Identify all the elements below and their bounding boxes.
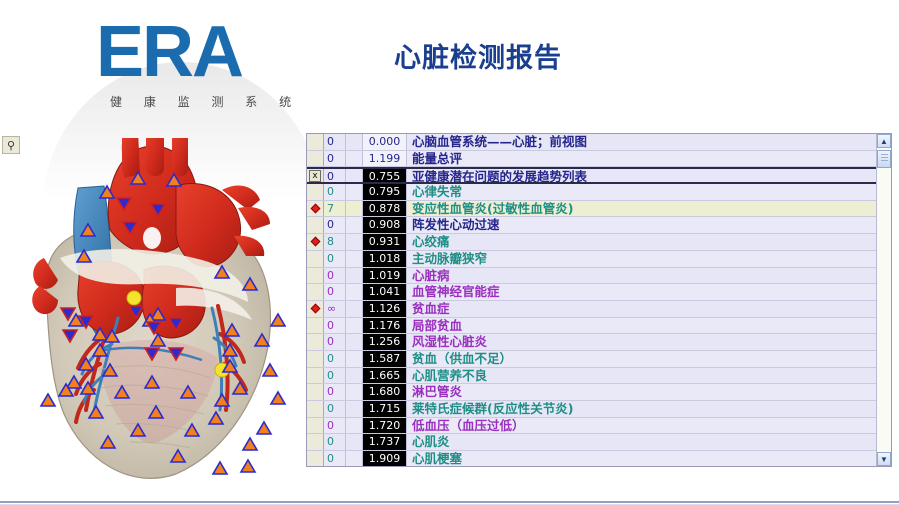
row-spacer-cell [346,284,363,300]
table-row[interactable]: 01.909心肌梗塞 [307,451,876,466]
row-flag-cell [307,418,324,434]
row-label-cell: 局部贫血 [407,318,876,334]
row-label-cell: 莱特氏症候群(反应性关节炎) [407,401,876,417]
row-spacer-cell [346,151,363,167]
row-value-cell: 1.019 [363,268,407,284]
row-count-cell: 0 [324,451,346,466]
row-spacer-cell [346,318,363,334]
row-spacer-cell [346,134,363,150]
row-flag-cell [307,268,324,284]
table-row[interactable]: 01.720低血压（血压过低） [307,418,876,435]
row-spacer-cell [346,368,363,384]
row-label-cell: 亚健康潜在问题的发展趋势列表 [407,169,876,182]
row-spacer-cell [346,418,363,434]
row-count-cell: 0 [324,368,346,384]
row-spacer-cell [346,184,363,200]
row-value-cell: 1.199 [363,151,407,167]
heart-anatomy-image [26,138,294,488]
diamond-shape [310,304,320,314]
row-label-cell: 淋巴管炎 [407,384,876,400]
row-spacer-cell [346,234,363,250]
diamond-shape [310,204,320,214]
row-spacer-cell [346,434,363,450]
row-count-cell: ∞ [324,301,346,317]
row-count-cell: 0 [324,284,346,300]
table-row[interactable]: 01.018主动脉瓣狭窄 [307,251,876,268]
row-flag-cell [307,151,324,167]
row-value-cell: 0.908 [363,217,407,233]
scroll-up-button[interactable]: ▲ [877,134,891,148]
row-label-cell: 心脏病 [407,268,876,284]
report-page: ERA 健 康 监 测 系 统 心脏检测报告 ⚲ [0,0,899,505]
close-glyph[interactable]: x [309,170,321,182]
row-count-cell: 0 [324,384,346,400]
row-value-cell: 0.000 [363,134,407,150]
table-row[interactable]: 01.019心脏病 [307,268,876,285]
table-row[interactable]: 70.878变应性血管炎(过敏性血管炎) [307,201,876,218]
scroll-down-button[interactable]: ▼ [877,452,891,466]
row-label-cell: 低血压（血压过低） [407,418,876,434]
row-flag-cell [307,251,324,267]
row-value-cell: 1.176 [363,318,407,334]
row-count-cell: 8 [324,234,346,250]
row-count-cell: 0 [324,351,346,367]
table-row[interactable]: 01.199能量总评 [307,151,876,168]
row-value-cell: 1.126 [363,301,407,317]
heart-image-panel: ⚲ [0,130,300,490]
row-spacer-cell [346,201,363,217]
row-value-cell: 1.715 [363,401,407,417]
row-value-cell: 0.795 [363,184,407,200]
row-flag-cell [307,434,324,450]
row-label-cell: 风湿性心脏炎 [407,334,876,350]
row-count-cell: 0 [324,217,346,233]
row-spacer-cell [346,451,363,466]
table-row[interactable]: 01.587贫血（供血不足） [307,351,876,368]
table-row[interactable]: x00.755亚健康潜在问题的发展趋势列表 [307,167,876,184]
table-scrollbar[interactable]: ▲ ▼ [876,134,891,466]
row-label-cell: 心肌营养不良 [407,368,876,384]
row-flag-cell [307,217,324,233]
footer-divider [0,501,899,503]
row-spacer-cell [346,268,363,284]
row-value-cell: 1.737 [363,434,407,450]
row-count-cell: 0 [324,184,346,200]
brand-logo: ERA 健 康 监 测 系 统 [52,8,302,120]
row-label-cell: 血管神经官能症 [407,284,876,300]
row-label-cell: 心律失常 [407,184,876,200]
row-count-cell: 0 [324,318,346,334]
row-value-cell: 1.256 [363,334,407,350]
row-flag-cell [307,334,324,350]
row-spacer-cell [346,169,363,182]
row-count-cell: 0 [324,401,346,417]
diamond-shape [310,237,320,247]
row-label-cell: 贫血（供血不足） [407,351,876,367]
logo-text: ERA [96,16,242,88]
table-row[interactable]: 00.795心律失常 [307,184,876,201]
row-value-cell: 0.931 [363,234,407,250]
table-row[interactable]: 01.715莱特氏症候群(反应性关节炎) [307,401,876,418]
row-value-cell: 1.665 [363,368,407,384]
table-row[interactable]: 01.665心肌营养不良 [307,368,876,385]
row-spacer-cell [346,384,363,400]
row-count-cell: 0 [324,268,346,284]
logo-subtitle: 健 康 监 测 系 统 [110,93,300,110]
row-value-cell: 1.041 [363,284,407,300]
row-count-cell: 0 [324,151,346,167]
row-flag-cell [307,384,324,400]
row-count-cell: 0 [324,134,346,150]
row-flag-cell [307,284,324,300]
row-count-cell: 0 [324,251,346,267]
row-spacer-cell [346,351,363,367]
row-flag-cell [307,401,324,417]
page-title: 心脏检测报告 [394,36,562,75]
row-count-cell: 7 [324,201,346,217]
row-spacer-cell [346,251,363,267]
diagnosis-table[interactable]: 00.000心脑血管系统——心脏；前视图01.199能量总评x00.755亚健康… [307,134,876,466]
row-value-cell: 1.018 [363,251,407,267]
diagnosis-table-panel: 00.000心脑血管系统——心脏；前视图01.199能量总评x00.755亚健康… [306,133,892,467]
close-icon[interactable]: x [307,169,324,182]
row-value-cell: 0.878 [363,201,407,217]
row-label-cell: 主动脉瓣狭窄 [407,251,876,267]
row-count-cell: 0 [324,418,346,434]
row-spacer-cell [346,401,363,417]
row-value-cell: 1.720 [363,418,407,434]
row-count-cell: 0 [324,334,346,350]
row-label-cell: 心肌梗塞 [407,451,876,466]
row-spacer-cell [346,217,363,233]
row-spacer-cell [346,334,363,350]
row-value-cell: 0.755 [363,169,407,182]
table-row[interactable]: 80.931心绞痛 [307,234,876,251]
row-count-cell: 0 [324,434,346,450]
table-row[interactable]: 01.256风湿性心脏炎 [307,334,876,351]
table-row[interactable]: 01.176局部贫血 [307,318,876,335]
alert-diamond-icon[interactable] [307,301,324,317]
table-row[interactable]: 01.041血管神经官能症 [307,284,876,301]
row-value-cell: 1.587 [363,351,407,367]
row-label-cell: 心脑血管系统——心脏；前视图 [407,134,876,150]
table-row[interactable]: 01.737心肌炎 [307,434,876,451]
page-header: ERA 健 康 监 测 系 统 心脏检测报告 [0,0,899,122]
row-spacer-cell [346,301,363,317]
row-label-cell: 变应性血管炎(过敏性血管炎) [407,201,876,217]
row-flag-cell [307,351,324,367]
table-row[interactable]: 00.908阵发性心动过速 [307,217,876,234]
alert-diamond-icon[interactable] [307,234,324,250]
row-value-cell: 1.680 [363,384,407,400]
row-flag-cell [307,134,324,150]
row-label-cell: 心绞痛 [407,234,876,250]
row-flag-cell [307,368,324,384]
table-row[interactable]: ∞1.126贫血症 [307,301,876,318]
row-label-cell: 心肌炎 [407,434,876,450]
row-flag-cell [307,451,324,466]
row-flag-cell [307,318,324,334]
table-row[interactable]: 00.000心脑血管系统——心脏；前视图 [307,134,876,151]
row-label-cell: 能量总评 [407,151,876,167]
row-value-cell: 1.909 [363,451,407,466]
table-row[interactable]: 01.680淋巴管炎 [307,384,876,401]
row-label-cell: 贫血症 [407,301,876,317]
row-flag-cell [307,184,324,200]
alert-diamond-icon[interactable] [307,201,324,217]
row-label-cell: 阵发性心动过速 [407,217,876,233]
row-count-cell: 0 [324,169,346,182]
scrollbar-thumb[interactable] [877,150,891,168]
magnifier-icon[interactable]: ⚲ [2,136,20,154]
